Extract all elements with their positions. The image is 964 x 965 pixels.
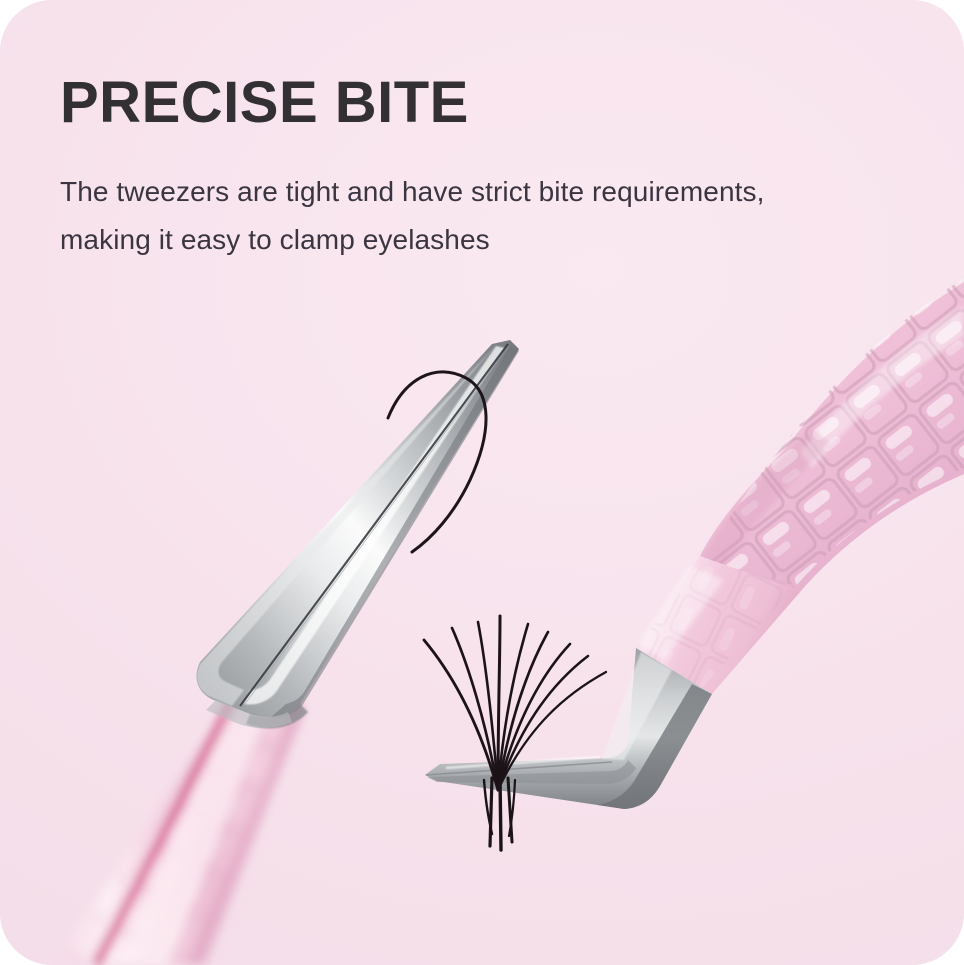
lash-fan [424,616,606,850]
subtitle-line-2: making it easy to clamp eyelashes [60,216,790,264]
left-tweezer-steel-tip [196,340,519,728]
product-feature-card: PRECISE BITE The tweezers are tight and … [0,0,964,965]
left-tweezer [40,340,519,965]
page-subtitle: The tweezers are tight and have strict b… [60,168,790,264]
text-block: PRECISE BITE The tweezers are tight and … [60,72,860,264]
subtitle-line-1: The tweezers are tight and have strict b… [60,176,764,207]
page-title: PRECISE BITE [60,72,860,134]
